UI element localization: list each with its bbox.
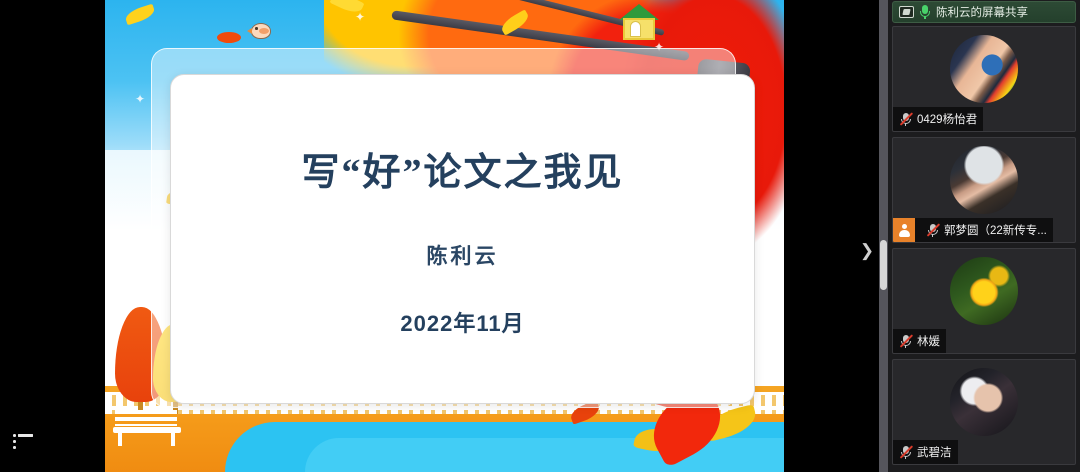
slide-content-card: 写“好”论文之我见 陈利云 2022年11月 bbox=[170, 74, 755, 404]
microphone-muted-icon bbox=[899, 334, 912, 349]
participants-rail: 陈利云的屏幕共享 0429杨怡君 郭梦圆（22新传专... bbox=[888, 0, 1080, 472]
slide-list-button[interactable] bbox=[6, 424, 40, 458]
avatar bbox=[950, 146, 1018, 214]
host-person-icon bbox=[893, 218, 915, 242]
participant-tile[interactable]: 郭梦圆（22新传专... bbox=[892, 137, 1076, 243]
participant-name: 林媛 bbox=[917, 333, 940, 349]
screen-share-icon bbox=[899, 6, 914, 18]
presentation-slide: ✦ ✦ ✦ ✦ bbox=[105, 0, 784, 472]
screen-share-label: 陈利云的屏幕共享 bbox=[936, 4, 1028, 20]
avatar bbox=[950, 257, 1018, 325]
microphone-muted-icon bbox=[926, 223, 939, 238]
microphone-icon bbox=[920, 5, 930, 19]
sparkle-decoration: ✦ bbox=[135, 92, 145, 106]
water-path-decoration bbox=[305, 438, 784, 472]
bench-decoration bbox=[113, 410, 181, 446]
avatar bbox=[950, 368, 1018, 436]
microphone-muted-icon bbox=[899, 112, 912, 127]
participant-name: 郭梦圆（22新传专... bbox=[944, 222, 1047, 238]
vertical-scrollbar-track[interactable] bbox=[879, 0, 888, 472]
slide-author: 陈利云 bbox=[427, 240, 499, 270]
birdhouse-icon bbox=[619, 4, 659, 40]
participant-tile[interactable]: 0429杨怡君 bbox=[892, 26, 1076, 132]
participant-tile[interactable]: 武碧洁 bbox=[892, 359, 1076, 465]
sparkle-decoration: ✦ bbox=[355, 10, 365, 24]
participant-name-bar: 武碧洁 bbox=[893, 440, 958, 464]
meeting-screen-share-window: ✦ ✦ ✦ ✦ bbox=[0, 0, 1080, 472]
participant-name-bar: 林媛 bbox=[893, 329, 946, 353]
screen-share-banner[interactable]: 陈利云的屏幕共享 bbox=[892, 1, 1076, 23]
participant-name: 武碧洁 bbox=[917, 444, 952, 460]
microphone-muted-icon bbox=[899, 445, 912, 460]
participant-name-bar: 郭梦圆（22新传专... bbox=[893, 218, 1053, 242]
slide-date: 2022年11月 bbox=[400, 306, 524, 338]
bird-icon bbox=[251, 20, 273, 40]
slide-title: 写“好”论文之我见 bbox=[301, 141, 623, 196]
participant-tile[interactable]: 林媛 bbox=[892, 248, 1076, 354]
vertical-scrollbar-thumb[interactable] bbox=[880, 240, 887, 290]
leaf-decoration bbox=[217, 32, 241, 43]
sidebar-toggle-button[interactable]: ❯ bbox=[858, 238, 876, 264]
avatar bbox=[950, 35, 1018, 103]
participant-name-bar: 0429杨怡君 bbox=[893, 107, 983, 131]
shared-screen-area: ✦ ✦ ✦ ✦ bbox=[0, 0, 888, 472]
participant-name: 0429杨怡君 bbox=[917, 111, 977, 127]
list-icon bbox=[13, 434, 33, 449]
